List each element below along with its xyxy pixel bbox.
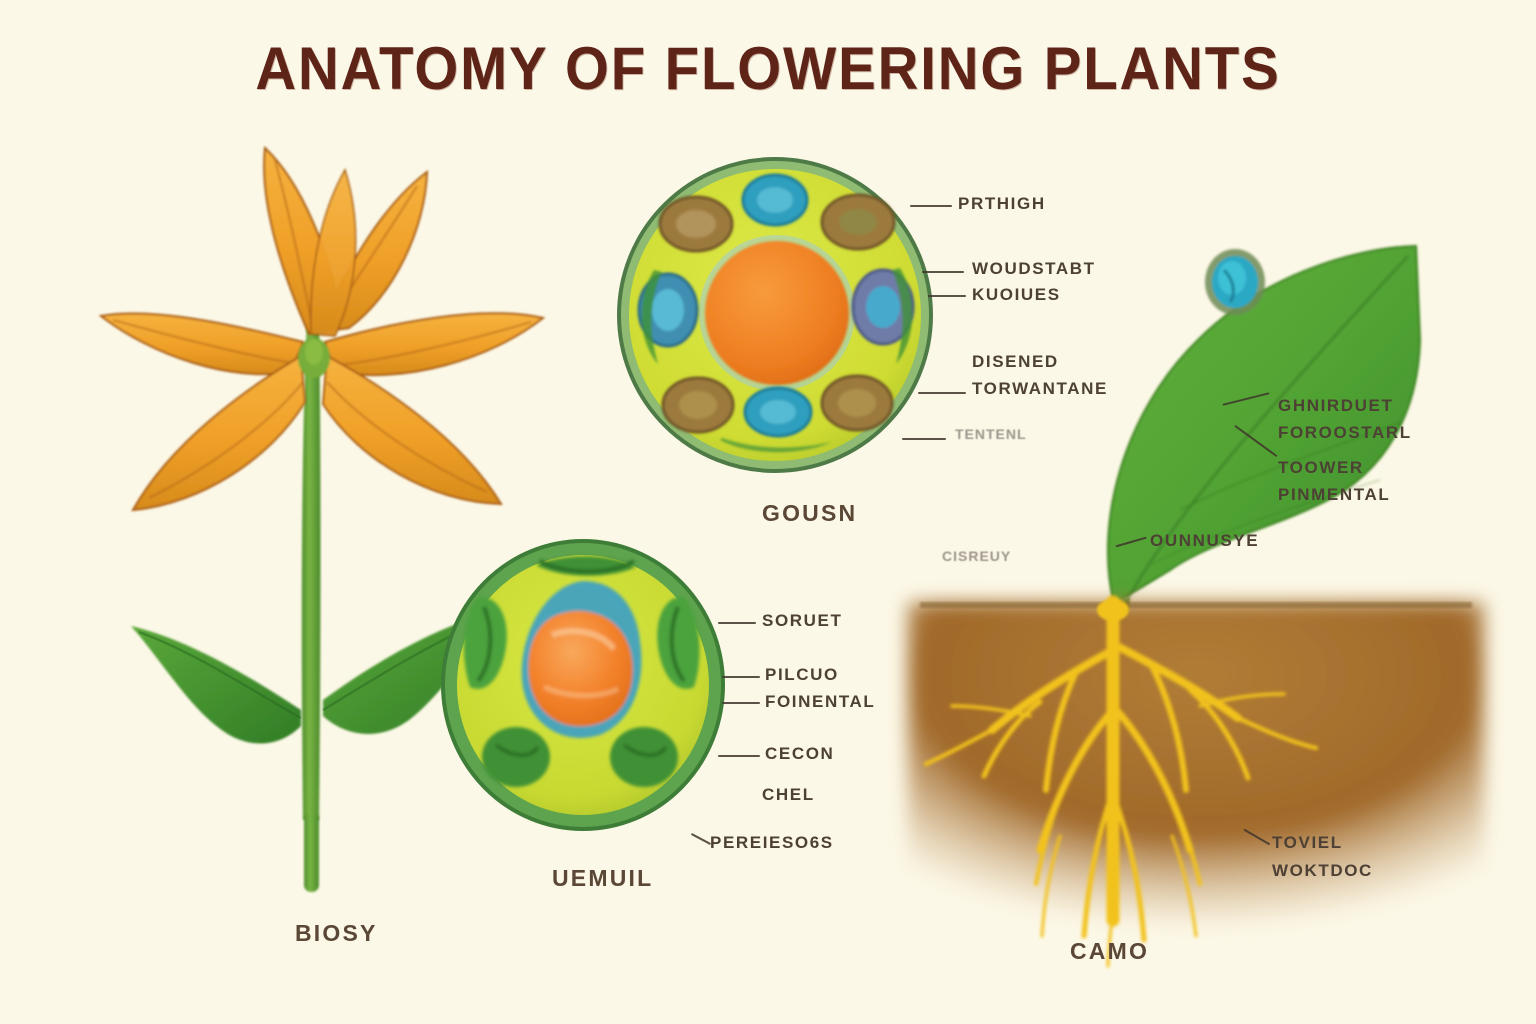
label-foroostarl: FOROOSTARL bbox=[1278, 423, 1412, 443]
label-ounnusye: OUNNUSYE bbox=[1150, 531, 1259, 551]
flower-stem bbox=[302, 320, 321, 892]
cell-bottom-caption: UEMUIL bbox=[552, 865, 653, 892]
nucleus bbox=[699, 235, 855, 391]
label-toviel: TOVIEL bbox=[1272, 833, 1343, 853]
soil bbox=[908, 602, 1484, 932]
cell-diagram-bottom bbox=[440, 535, 730, 835]
poster-canvas: ANATOMY OF FLOWERING PLANTS bbox=[0, 0, 1536, 1024]
label-foinental: FOINENTAL bbox=[765, 692, 875, 712]
cell-top-caption: GOUSN bbox=[762, 500, 857, 527]
flower-petals bbox=[101, 148, 543, 510]
plant-caption: CAMO bbox=[1070, 938, 1149, 965]
label-pinmental: PINMENTAL bbox=[1278, 485, 1390, 505]
stoma-spot bbox=[1205, 249, 1265, 315]
label-cecon: CECON bbox=[765, 744, 834, 764]
label-toower: TOOWER bbox=[1278, 458, 1364, 478]
label-pereieso6s: PEREIESO6S bbox=[710, 833, 834, 853]
page-title: ANATOMY OF FLOWERING PLANTS bbox=[46, 34, 1490, 103]
leader-line bbox=[718, 755, 760, 757]
label-chel: CHEL bbox=[762, 785, 815, 805]
flower-leaf-left bbox=[131, 626, 301, 744]
label-cisreuy: CISREUY bbox=[942, 548, 1011, 564]
label-woktdoc: WOKTDOC bbox=[1272, 861, 1373, 881]
leader-line bbox=[718, 622, 756, 624]
label-pilcuo: PILCUO bbox=[765, 665, 839, 685]
label-ghnirduet: GHNIRDUET bbox=[1278, 396, 1393, 416]
label-soruet: SORUET bbox=[762, 611, 842, 631]
flower-caption: BIOSY bbox=[295, 920, 378, 947]
leader-line bbox=[722, 676, 760, 678]
leader-line bbox=[722, 702, 760, 704]
